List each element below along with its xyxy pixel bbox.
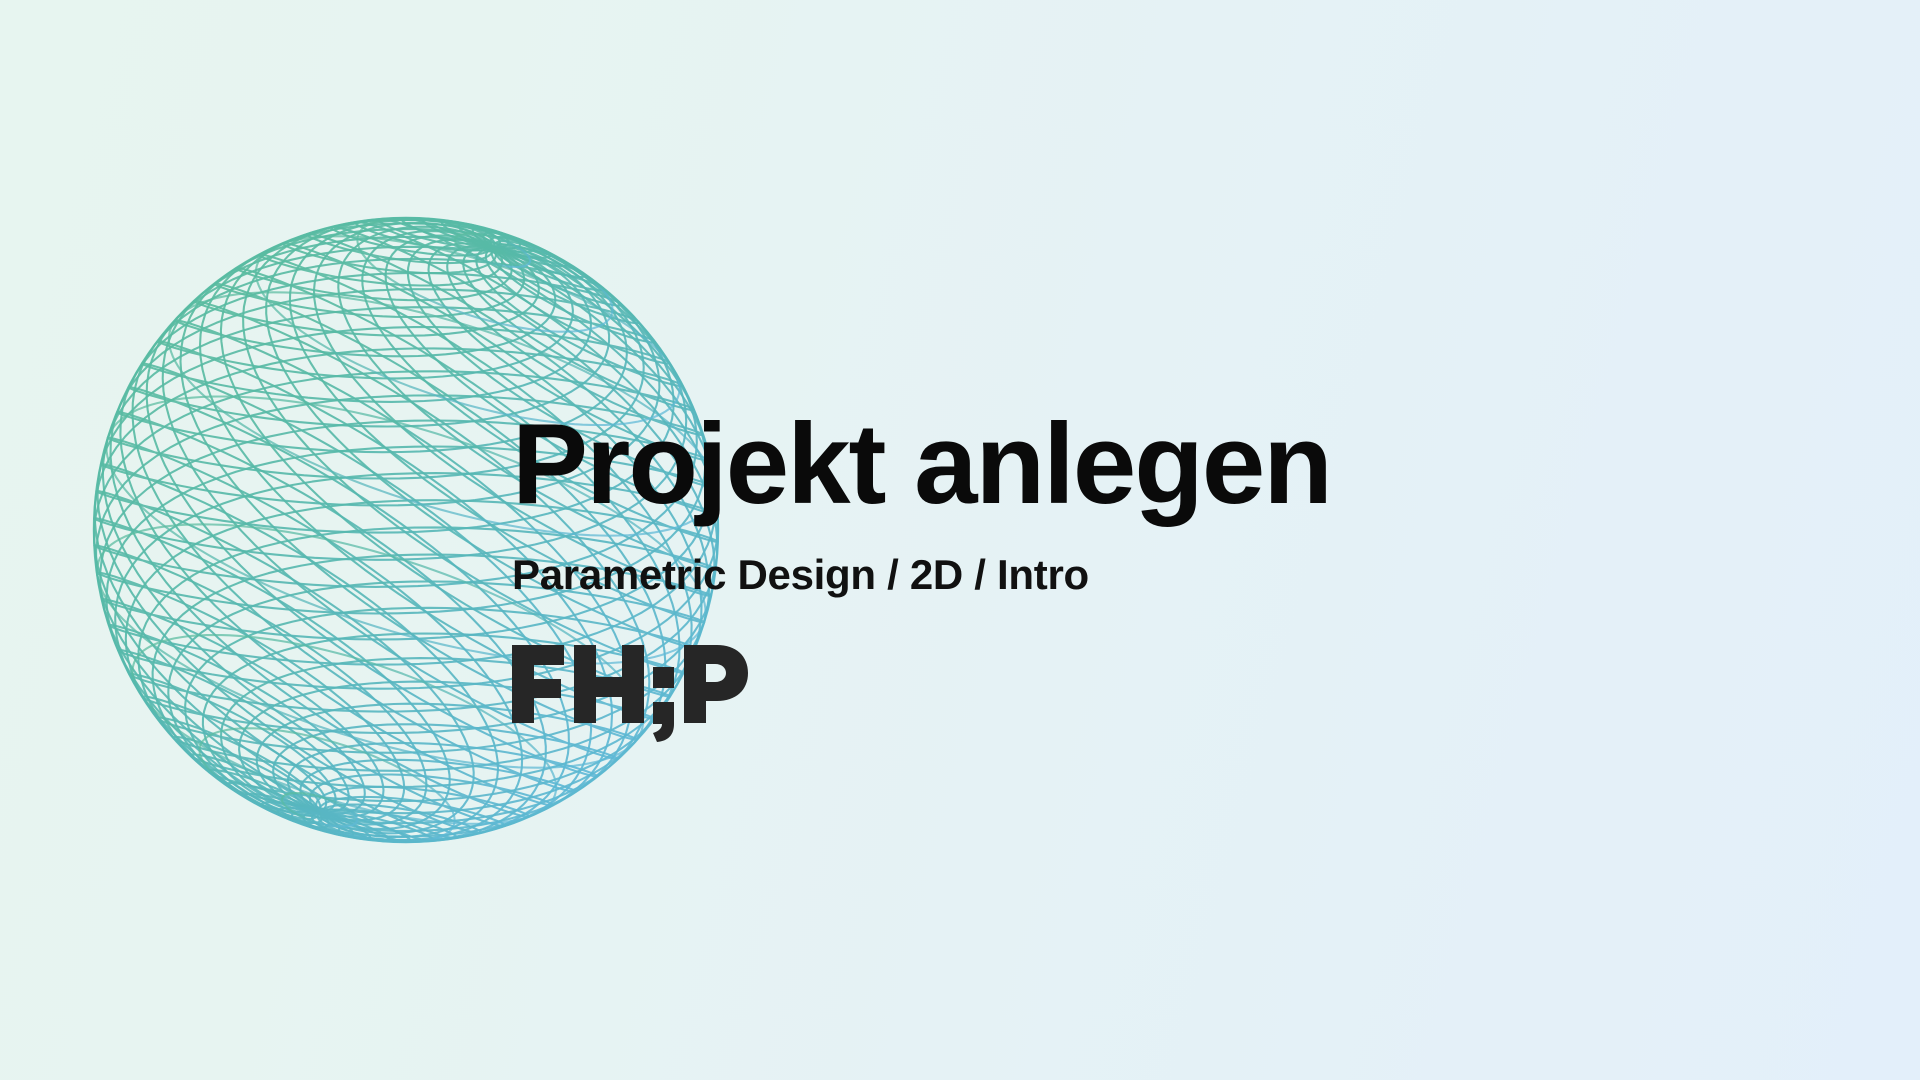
title-group: Projekt anlegen Parametric Design / 2D /… — [512, 408, 1612, 742]
page-title: Projekt anlegen — [512, 408, 1612, 522]
fhp-logo-icon: FH;P — [512, 634, 748, 742]
page-subtitle: Parametric Design / 2D / Intro — [512, 554, 1612, 596]
slide-canvas: Projekt anlegen Parametric Design / 2D /… — [0, 0, 1920, 1080]
fhp-logo: FH;P — [512, 634, 748, 742]
